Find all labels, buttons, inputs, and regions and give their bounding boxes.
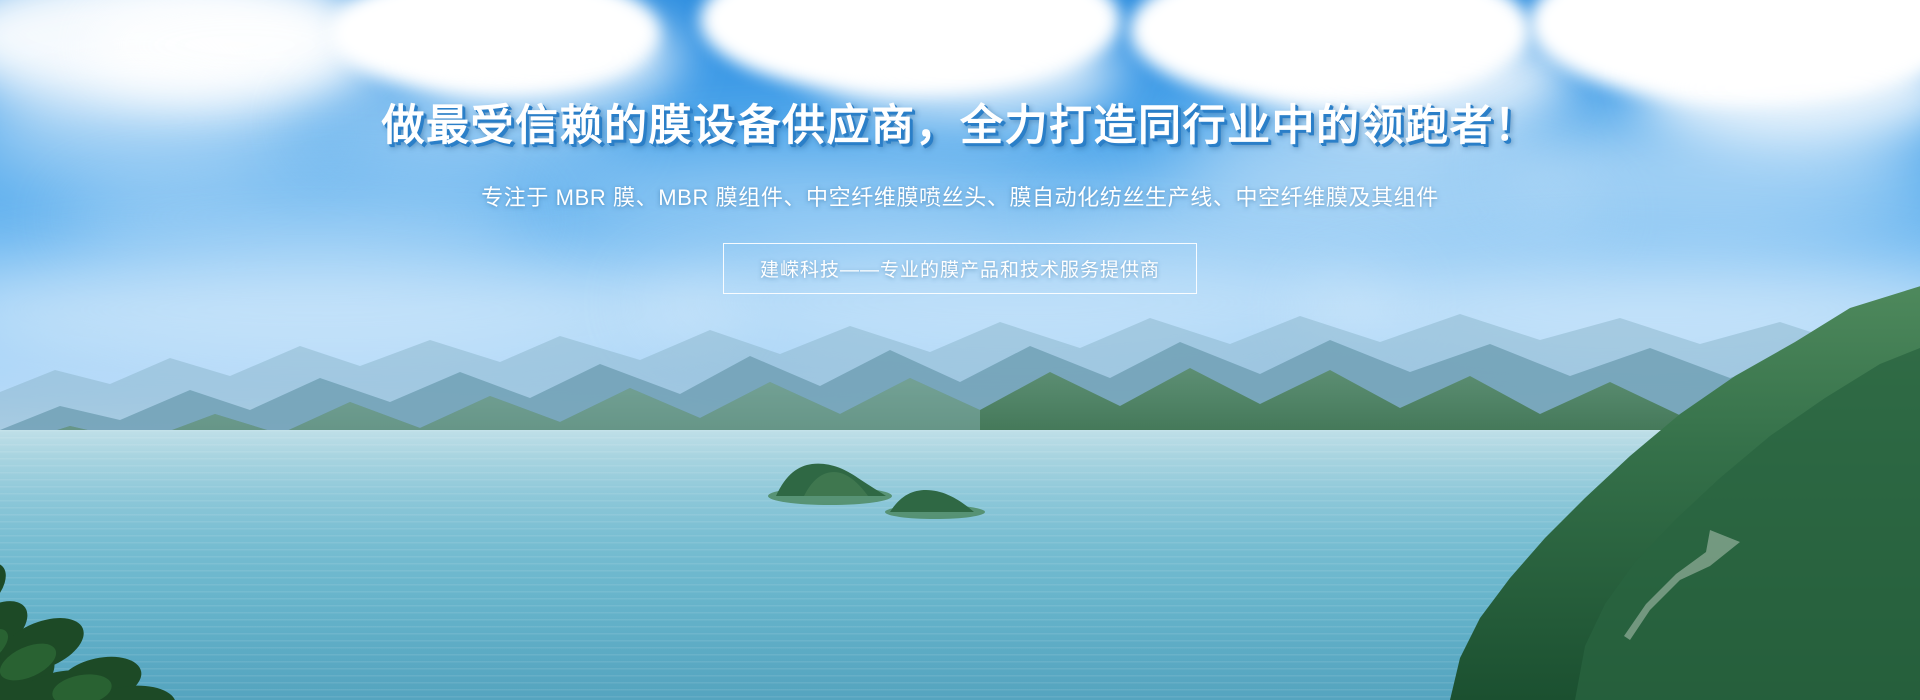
banner-headline: 做最受信赖的膜设备供应商，全力打造同行业中的领跑者！ [0, 99, 1920, 153]
forested-hill-right [1380, 280, 1920, 700]
foreground-foliage-left [0, 440, 270, 700]
tagline-text: 建嵘科技——专业的膜产品和技术服务提供商 [760, 255, 1160, 282]
hero-banner: 做最受信赖的膜设备供应商，全力打造同行业中的领跑者！ 专注于 MBR 膜、MBR… [0, 0, 1920, 700]
lake-island-small [880, 472, 990, 520]
tagline-box: 建嵘科技——专业的膜产品和技术服务提供商 [723, 243, 1197, 294]
banner-subtitle: 专注于 MBR 膜、MBR 膜组件、中空纤维膜喷丝头、膜自动化纺丝生产线、中空纤… [0, 183, 1920, 213]
lake-island-center [760, 438, 900, 508]
